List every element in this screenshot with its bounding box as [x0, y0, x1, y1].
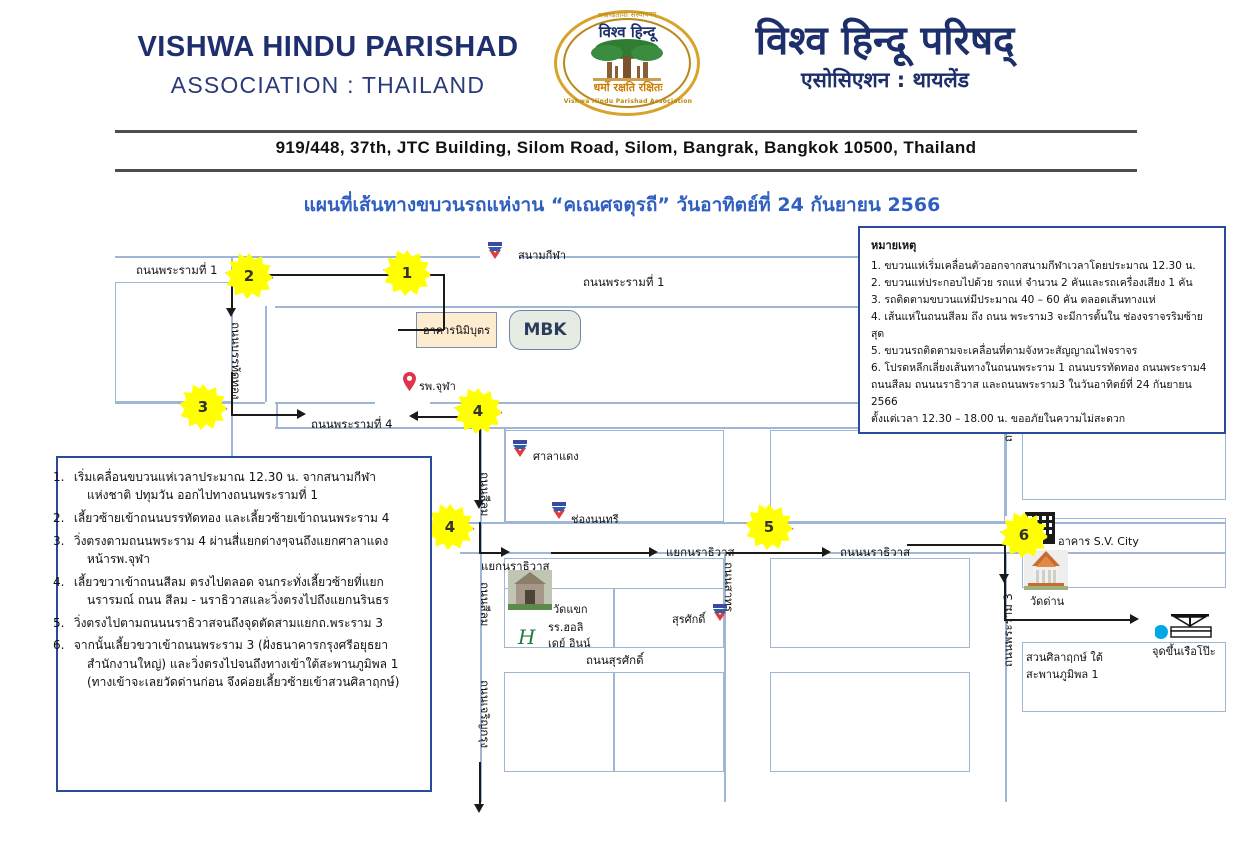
block-s-2: [770, 558, 970, 648]
notes-item: 4. เส้นแห่ในถนนสีลม ถึง ถนน พระราม3 จะมี…: [871, 309, 1213, 343]
marker-3-label: 3: [198, 398, 208, 416]
temple-icon-wat-dan: [1024, 550, 1068, 590]
route-step-3-line1: วิ่งตรงตามถนนพระราม 4 ผ่านสี่แยกต่างๆจนถ…: [74, 534, 388, 548]
route-step-1: 1. เริ่มเคลื่อนขบวนแห่เวลาประมาณ 12.30 น…: [70, 468, 418, 504]
org-name-english: VISHWA HINDU PARISHAD ASSOCIATION : THAI…: [118, 32, 538, 99]
poi-label-suan-sila-1: สวนศิลาฤกษ์ ใต้: [1026, 650, 1103, 667]
org-name-hi-line2: एसोसिएशन : थायलेंड: [735, 66, 1035, 94]
bts-icon-saladaeng: [512, 440, 528, 457]
poi-label-saladaeng: ศาลาแดง: [533, 447, 579, 465]
road-line-banthatthong-b: [265, 306, 267, 402]
route-arrowhead-5a: [649, 547, 658, 557]
marker-6-label: 6: [1019, 526, 1029, 544]
road-line-rama4-a: [275, 402, 375, 404]
poi-label-surasak: สุรศักดิ์: [672, 610, 705, 628]
poi-label-holiday-inn-2: เดย์ อินน์: [548, 634, 591, 652]
block-sw-2: [614, 672, 724, 772]
notes-item: ตั้งแต่เวลา 12.30 – 18.00 น. ขออภัยในควา…: [871, 411, 1213, 428]
route-arrowhead-charoenkrung: [474, 804, 484, 813]
block-ne: [1022, 430, 1226, 500]
road-label-rama1-left: ถนนพระรามที่ 1: [136, 262, 217, 280]
route-step-3-line2: หน้ารพ.จุฬา: [87, 552, 150, 566]
route-arrow-6-down-a: [1004, 544, 1006, 576]
bts-icon-sanamkila: [487, 242, 503, 259]
org-name-en-line2: ASSOCIATION : THAILAND: [118, 72, 538, 99]
org-name-hi-line1: विश्व हिन्दू परिषद्: [735, 18, 1035, 64]
poi-suan-sila: สวนศิลาฤกษ์ ใต้ สะพานภูมิพล 1: [1026, 650, 1103, 683]
org-name-hindi: विश्व हिन्दू परिषद् एसोसिएशन : थायलेंड: [735, 18, 1035, 94]
route-step-5: 5. วิ่งตรงไปตามถนนนราธิวาสจนถึงจุดตัดสาม…: [70, 614, 418, 632]
route-arrow-2-right: [231, 414, 299, 416]
route-arrowhead-5b: [822, 547, 831, 557]
route-arrow-4-down-b: [479, 522, 481, 554]
road-label-silom-upper: ถนนสีลม: [475, 472, 493, 516]
notes-item: ถนนสีลม ถนนนราธิวาส และถนนพระราม3 ในวันอ…: [871, 377, 1213, 411]
route-arrow-6-east: [907, 544, 1005, 546]
marker-2-label: 2: [244, 267, 254, 285]
map-pin-icon-hospital: [403, 372, 416, 391]
notes-item: 6. โปรดหลีกเลี่ยงเส้นทางในถนนพระราม 1 ถน…: [871, 360, 1213, 377]
marker-4b-label: 4: [445, 518, 455, 536]
notes-heading: หมายเหตุ: [871, 236, 1213, 254]
road-label-banthatthong: ถนนบรรทัดทอง: [226, 322, 244, 400]
poi-label-suan-sila-2: สะพานภูมิพล 1: [1026, 667, 1103, 684]
route-arrowhead-4b: [501, 547, 510, 557]
poi-label-boat-point: จุดขึ้นเรือโป๊ะ: [1152, 642, 1216, 660]
poi-label-chongnonsi: ช่องนนทรี: [571, 510, 619, 528]
banyan-tree-icon: [587, 38, 667, 82]
block-silom-2: [770, 430, 1005, 522]
route-arrow-1-stub: [398, 329, 444, 331]
route-step-4-line2: นรารมณ์ ถนน สีลม - นราธิวาสและวิ่งตรงไปถ…: [87, 593, 389, 607]
road-label-rama3-lower: ถนนพระราม 3: [1000, 593, 1018, 667]
marker-4b[interactable]: 4: [427, 504, 473, 550]
route-step-6-line3: (ทางเข้าจะเลยวัดด่านก่อน จึงค่อยเลี้ยวซ้…: [87, 675, 399, 689]
route-step-4-line1: เลี้ยวขวาเข้าถนนสีลม ตรงไปตลอด จนกระทั่ง…: [74, 575, 384, 589]
route-step-6-line2: สำนักงานใหญ่) และวิ่งตรงไปจนถึงทางเข้าใต…: [87, 657, 398, 671]
route-arrowhead-4a: [474, 500, 484, 509]
route-arrowhead-2b: [297, 409, 306, 419]
route-step-2: 2. เลี้ยวซ้ายเข้าถนนบรรทัดทอง และเลี้ยวซ…: [70, 509, 418, 527]
divider-top: [115, 130, 1137, 133]
route-step-4: 4. เลี้ยวขวาเข้าถนนสีลม ตรงไปตลอด จนกระท…: [70, 573, 418, 609]
road-label-surasak: ถนนสุรศักดิ์: [586, 652, 644, 670]
temple-icon-wat-yaek: [508, 570, 552, 610]
bts-icon-chongnonsi: [551, 502, 567, 519]
poi-mbk: MBK: [509, 310, 581, 350]
marker-1-label: 1: [402, 264, 412, 282]
poi-label-sv-city: อาคาร S.V. City: [1058, 532, 1139, 550]
poi-label-sanamkila: สนามกีฬา: [518, 246, 566, 264]
block-sw-1: [504, 672, 614, 772]
road-label-silom-lower: ถนนสีลม: [475, 582, 493, 626]
route-arrow-5-east-b: [726, 552, 824, 554]
route-step-6: 6. จากนั้นเลี้ยวขวาเข้าถนนพระราม 3 (ฝั่ง…: [70, 636, 418, 691]
poi-label-hospital: รพ.จุฬา: [419, 377, 456, 395]
address-band: 919/448, 37th, JTC Building, Silom Road,…: [115, 130, 1137, 172]
holiday-inn-logo-icon: H: [517, 626, 541, 648]
block-surasak: [614, 588, 724, 648]
route-arrowhead-2a: [226, 308, 236, 317]
route-arrow-2-down-b: [231, 372, 233, 415]
poi-label-wat-yaek: วัดแขก: [553, 600, 588, 618]
svg-text:H: H: [517, 626, 536, 648]
notes-item: 5. ขบวนรถติดตามจะเคลื่อนที่ตามจังหวะสัญญ…: [871, 343, 1213, 360]
road-label-charoenkrung: ถนนเจริญกรุง: [475, 680, 493, 748]
pier-icon-boat-point: [1155, 612, 1213, 642]
route-arrowhead-6b: [1130, 614, 1139, 624]
route-arrow-5-east-a: [551, 552, 651, 554]
notes-panel: หมายเหตุ 1. ขบวนแห่เริ่มเคลื่อนตัวออกจาก…: [858, 226, 1226, 434]
route-step-6-line1: จากนั้นเลี้ยวขวาเข้าถนนพระราม 3 (ฝั่งธนา…: [74, 638, 388, 652]
logo-bottom-band-text-2: Vishwa Hindu Parishad Association: [562, 98, 694, 105]
divider-bottom: [115, 169, 1137, 172]
block-nw: [115, 282, 233, 402]
marker-5-label: 5: [764, 518, 774, 536]
road-label-rama4: ถนนพระรามที่ 4: [311, 416, 392, 434]
bts-icon-surasak: [712, 604, 728, 621]
road-label-rama1-right: ถนนพระรามที่ 1: [583, 274, 664, 292]
block-sw-3: [770, 672, 970, 772]
route-arrow-6-down-b: [1004, 576, 1006, 620]
page-title: แผนที่เส้นทางขบวนรถแห่งาน “คเณศจตุรถี” ว…: [0, 190, 1244, 220]
route-arrow-1-vertical: [443, 274, 445, 330]
poi-label-wat-dan: วัดด่าน: [1030, 592, 1064, 610]
road-label-narathiwat: ถนนนราธิวาส: [840, 544, 910, 562]
address-text: 919/448, 37th, JTC Building, Silom Road,…: [115, 138, 1137, 158]
route-step-1-line1: เริ่มเคลื่อนขบวนแห่เวลาประมาณ 12.30 น. จ…: [74, 470, 376, 484]
notes-item: 2. ขบวนแห่ประกอบไปด้วย รถแห่ จำนวน 2 คัน…: [871, 275, 1213, 292]
notes-item: 3. รถติดตามขบวนแห่มีประมาณ 40 – 60 คัน ต…: [871, 292, 1213, 309]
route-steps-panel: 1. เริ่มเคลื่อนขบวนแห่เวลาประมาณ 12.30 น…: [56, 456, 432, 792]
route-arrow-6-east-b: [1004, 619, 1132, 621]
letterhead: VISHWA HINDU PARISHAD ASSOCIATION : THAI…: [0, 0, 1244, 180]
road-label-narathiwat-jn-mid: แยกนราธิวาส: [666, 544, 735, 562]
route-step-1-line2: แห่งชาติ ปทุมวัน ออกไปทางถนนพระรามที่ 1: [87, 488, 318, 502]
vhp-logo: अखण्डतायाः संस्थापनम् विश्व हिन्दू धर्मो…: [532, 8, 722, 118]
route-step-2-line1: เลี้ยวซ้ายเข้าถนนบรรทัดทอง และเลี้ยวซ้าย…: [74, 511, 390, 525]
route-arrow-4-right: [479, 552, 503, 554]
org-name-en-line1: VISHWA HINDU PARISHAD: [118, 32, 538, 64]
route-step-5-line1: วิ่งตรงไปตามถนนนราธิวาสจนถึงจุดตัดสามแยก…: [74, 616, 383, 630]
road-line-rama1-left: [115, 256, 480, 258]
route-arrow-charoenkrung-down: [479, 762, 481, 808]
marker-4a-label: 4: [473, 402, 483, 420]
logo-bottom-band-text: धर्मो रक्षति रक्षितः: [570, 80, 686, 95]
block-silom-1: [504, 430, 724, 522]
route-step-3: 3. วิ่งตรงตามถนนพระราม 4 ผ่านสี่แยกต่างๆ…: [70, 532, 418, 568]
notes-item: 1. ขบวนแห่เริ่มเคลื่อนตัวออกจากสนามกีฬาเ…: [871, 258, 1213, 275]
